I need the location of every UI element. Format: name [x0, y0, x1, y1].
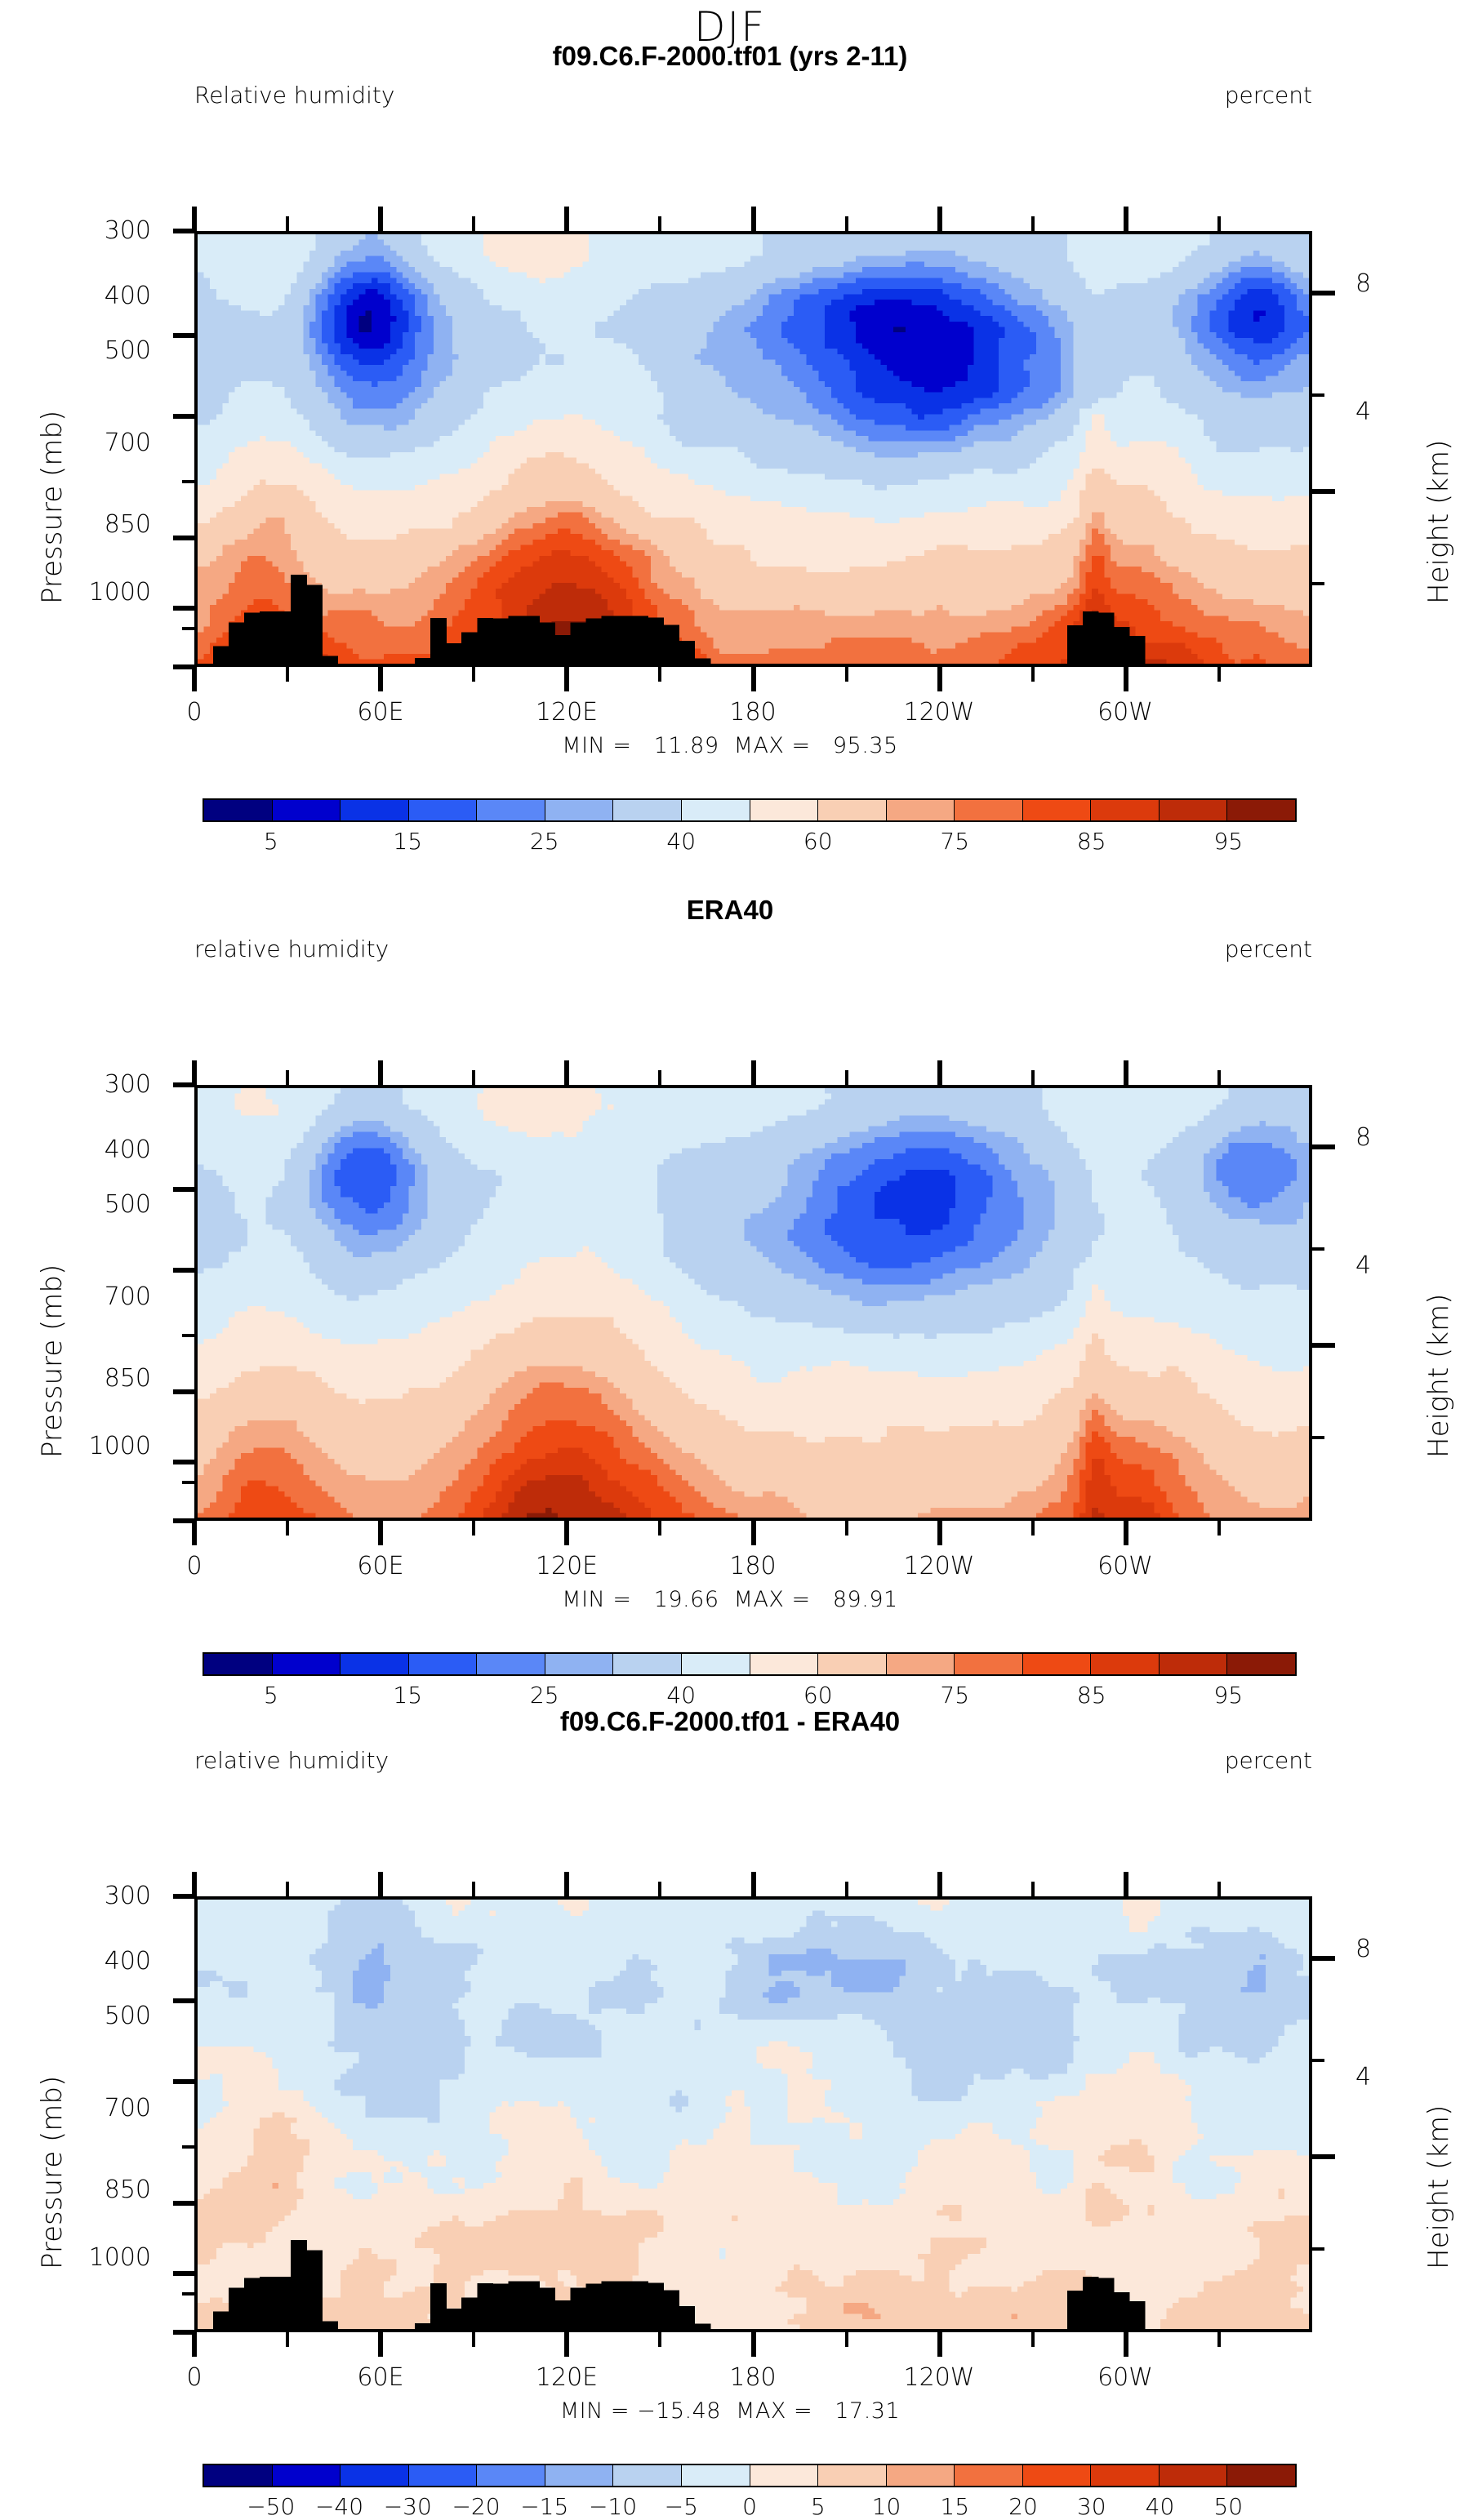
panel-3-ytick-1000: 1000	[49, 2243, 151, 2272]
colorbar-segment	[1091, 800, 1160, 820]
colorbar-segment	[1091, 1654, 1160, 1674]
colorbar-segment	[204, 1654, 273, 1674]
panel-2-xtick-0: 0	[154, 1552, 235, 1580]
colorbar-segment	[1227, 1654, 1295, 1674]
x-axis-minor-tick-bottom	[1217, 1521, 1221, 1536]
x-axis-major-tick-top	[751, 207, 756, 231]
panel-3-y2tick-8: 8	[1355, 1935, 1371, 1963]
colorbar-segment	[1160, 800, 1228, 820]
colorbar-segment	[818, 2465, 887, 2486]
x-axis-minor-tick-top	[658, 1882, 661, 1896]
panel-3-plot-area	[194, 1896, 1312, 2332]
y-axis-major-tick	[173, 2271, 196, 2276]
x-axis-minor-tick-bottom	[472, 1521, 475, 1536]
panel-1-title: f09.C6.F-2000.tf01 (yrs 2-11)	[0, 41, 1460, 72]
panel-2-xtick-60E: 60E	[340, 1552, 421, 1580]
y-axis-minor-tick	[182, 1481, 196, 1484]
y2-axis-major-tick	[1311, 2154, 1335, 2159]
x-axis-major-tick-bottom	[1124, 1521, 1128, 1545]
panel-2-plot-area	[194, 1085, 1312, 1521]
panel-3-ytick-300: 300	[65, 1882, 151, 1910]
colorbar-tick-label: 40	[636, 828, 726, 855]
colorbar-segment	[545, 2465, 614, 2486]
colorbar-segment	[613, 800, 682, 820]
colorbar-segment	[887, 1654, 955, 1674]
x-axis-major-tick-bottom	[192, 2332, 197, 2357]
colorbar-segment	[1227, 2465, 1295, 2486]
y-axis-major-tick	[173, 1460, 196, 1464]
panel-1-ytick-850: 850	[65, 510, 151, 539]
colorbar-segment	[1227, 800, 1295, 820]
x-axis-minor-tick-bottom	[286, 2332, 289, 2347]
panel-3-variable-label: relative humidity	[194, 1747, 389, 1774]
y2-axis-minor-tick	[1311, 393, 1324, 397]
x-axis-minor-tick-bottom	[472, 667, 475, 682]
colorbar-segment	[1160, 2465, 1228, 2486]
colorbar-tick-label: 60	[773, 828, 863, 855]
y2-axis-minor-tick	[1311, 1436, 1324, 1439]
x-axis-major-tick-top	[564, 1872, 569, 1896]
colorbar-segment	[273, 800, 341, 820]
colorbar-tick-label: 40	[636, 1682, 726, 1709]
colorbar-segment	[341, 1654, 409, 1674]
y-axis-major-tick	[173, 333, 196, 338]
colorbar-tick-label: 25	[500, 828, 590, 855]
colorbar-tick-label: 75	[910, 828, 999, 855]
panel-2-contour-field	[198, 1088, 1312, 1521]
x-axis-major-tick-top	[564, 207, 569, 231]
colorbar-segment	[477, 2465, 545, 2486]
x-axis-minor-tick-bottom	[845, 1521, 848, 1536]
x-axis-minor-tick-top	[1031, 1882, 1035, 1896]
colorbar-segment	[204, 800, 273, 820]
colorbar-segment	[955, 800, 1023, 820]
panel-2-colorbar	[203, 1652, 1297, 1676]
x-axis-major-tick-top	[751, 1872, 756, 1896]
x-axis-major-tick-top	[1124, 207, 1128, 231]
x-axis-minor-tick-bottom	[658, 2332, 661, 2347]
panel-1-xtick-0: 0	[154, 698, 235, 727]
panel-1-ytick-400: 400	[65, 282, 151, 310]
colorbar-tick-label: 15	[363, 828, 452, 855]
colorbar-segment	[273, 2465, 341, 2486]
panel-2-variable-label: relative humidity	[194, 936, 389, 962]
colorbar-tick-label: 85	[1047, 1682, 1137, 1709]
colorbar-segment	[955, 1654, 1023, 1674]
y-axis-major-tick	[173, 2201, 196, 2206]
y-axis-major-tick	[173, 1268, 196, 1273]
x-axis-minor-tick-bottom	[658, 667, 661, 682]
panel-1-ytick-300: 300	[65, 216, 151, 245]
y-axis-major-tick	[173, 1187, 196, 1192]
colorbar-segment	[1160, 1654, 1228, 1674]
x-axis-major-tick-top	[751, 1060, 756, 1085]
x-axis-major-tick-top	[1124, 1060, 1128, 1085]
y2-axis-minor-tick	[1311, 2247, 1324, 2251]
colorbar-segment	[341, 2465, 409, 2486]
x-axis-minor-tick-top	[472, 1882, 475, 1896]
panel-3-xtick-0: 0	[154, 2363, 235, 2392]
panel-3-ytick-700: 700	[65, 2094, 151, 2122]
x-axis-major-tick-bottom	[192, 667, 197, 691]
x-axis-minor-tick-bottom	[1031, 667, 1035, 682]
panel-3-xtick-60W: 60W	[1084, 2363, 1166, 2392]
x-axis-minor-tick-top	[658, 216, 661, 231]
colorbar-segment	[750, 1654, 819, 1674]
panel-2-xtick-120W: 120W	[898, 1552, 980, 1580]
y-axis-minor-tick	[182, 2145, 196, 2149]
panel-1-xtick-60W: 60W	[1084, 698, 1166, 727]
colorbar-segment	[818, 800, 887, 820]
panel-2-xtick-120E: 120E	[526, 1552, 608, 1580]
panel-1-minmax: MIN = 11.89 MAX = 95.35	[0, 733, 1460, 758]
panel-3-ytick-400: 400	[65, 1947, 151, 1976]
y-axis-major-tick	[173, 1998, 196, 2003]
colorbar-segment	[887, 800, 955, 820]
x-axis-minor-tick-top	[1217, 216, 1221, 231]
x-axis-major-tick-top	[937, 1872, 942, 1896]
x-axis-major-tick-top	[192, 1060, 197, 1085]
panel-2-y2tick-4: 4	[1355, 1251, 1371, 1280]
y2-axis-major-tick	[1311, 1956, 1335, 1961]
panel-3-colorbar	[203, 2464, 1297, 2487]
x-axis-minor-tick-top	[472, 216, 475, 231]
panel-1-y2tick-4: 4	[1355, 398, 1371, 426]
colorbar-segment	[545, 800, 614, 820]
colorbar-segment	[477, 1654, 545, 1674]
x-axis-minor-tick-bottom	[1031, 1521, 1035, 1536]
panel-2-y2-axis-label: Height (km)	[1422, 1294, 1455, 1458]
x-axis-minor-tick-bottom	[286, 667, 289, 682]
x-axis-minor-tick-top	[845, 1070, 848, 1085]
panel-3-title: f09.C6.F-2000.tf01 - ERA40	[0, 1706, 1460, 1737]
x-axis-major-tick-bottom	[751, 667, 756, 691]
panel-1-plot-area	[194, 231, 1312, 667]
panel-2-y-axis-label: Pressure (mb)	[36, 1264, 69, 1458]
x-axis-major-tick-bottom	[1124, 667, 1128, 691]
x-axis-major-tick-top	[1124, 1872, 1128, 1896]
panel-2-y2tick-8: 8	[1355, 1123, 1371, 1152]
x-axis-minor-tick-top	[286, 1070, 289, 1085]
colorbar-segment	[204, 2465, 273, 2486]
colorbar-segment	[1023, 2465, 1092, 2486]
x-axis-major-tick-bottom	[937, 1521, 942, 1545]
panel-1-contour-field	[198, 234, 1312, 667]
colorbar-segment	[750, 800, 819, 820]
panel-1-colorbar	[203, 798, 1297, 822]
y-axis-minor-tick	[182, 1334, 196, 1337]
y2-axis-major-tick	[1311, 1144, 1335, 1149]
x-axis-minor-tick-bottom	[845, 2332, 848, 2347]
panel-3-minmax: MIN = −15.48 MAX = 17.31	[0, 2398, 1460, 2424]
panel-1-variable-label: Relative humidity	[194, 82, 394, 109]
panel-3-contour-field	[198, 1900, 1312, 2332]
panel-3-y-axis-label: Pressure (mb)	[36, 2076, 69, 2269]
panel-2-xtick-60W: 60W	[1084, 1552, 1166, 1580]
y2-axis-major-tick	[1311, 489, 1335, 494]
panel-3-y2tick-4: 4	[1355, 2063, 1371, 2091]
x-axis-major-tick-bottom	[937, 667, 942, 691]
x-axis-minor-tick-bottom	[845, 667, 848, 682]
colorbar-tick-label: 75	[910, 1682, 999, 1709]
x-axis-minor-tick-top	[472, 1070, 475, 1085]
x-axis-major-tick-top	[937, 207, 942, 231]
x-axis-minor-tick-bottom	[658, 1521, 661, 1536]
x-axis-major-tick-bottom	[564, 1521, 569, 1545]
panel-3-xtick-60E: 60E	[340, 2363, 421, 2392]
x-axis-major-tick-bottom	[751, 2332, 756, 2357]
panel-3-xtick-120E: 120E	[526, 2363, 608, 2392]
y2-axis-major-tick	[1311, 291, 1335, 296]
panel-1-xtick-120W: 120W	[898, 698, 980, 727]
x-axis-major-tick-top	[564, 1060, 569, 1085]
x-axis-major-tick-bottom	[192, 1521, 197, 1545]
x-axis-major-tick-bottom	[937, 2332, 942, 2357]
colorbar-segment	[1091, 2465, 1160, 2486]
panel-1-xtick-180: 180	[712, 698, 794, 727]
x-axis-major-tick-top	[192, 1872, 197, 1896]
x-axis-minor-tick-top	[845, 216, 848, 231]
x-axis-major-tick-top	[378, 1872, 383, 1896]
x-axis-major-tick-bottom	[564, 667, 569, 691]
panel-2-ytick-850: 850	[65, 1364, 151, 1393]
colorbar-segment	[955, 2465, 1023, 2486]
x-axis-minor-tick-top	[286, 1882, 289, 1896]
y-axis-minor-tick	[182, 480, 196, 483]
y-axis-major-tick	[173, 414, 196, 419]
colorbar-segment	[1023, 1654, 1092, 1674]
x-axis-major-tick-bottom	[751, 1521, 756, 1545]
panel-2-ytick-700: 700	[65, 1282, 151, 1311]
x-axis-minor-tick-bottom	[1217, 2332, 1221, 2347]
colorbar-segment	[409, 1654, 478, 1674]
x-axis-minor-tick-bottom	[1031, 2332, 1035, 2347]
x-axis-minor-tick-top	[1217, 1070, 1221, 1085]
colorbar-segment	[545, 1654, 614, 1674]
panel-2-title: ERA40	[0, 895, 1460, 926]
colorbar-tick-label: 50	[1187, 2493, 1269, 2520]
panel-1-xtick-60E: 60E	[340, 698, 421, 727]
x-axis-major-tick-bottom	[378, 1521, 383, 1545]
y-axis-major-tick	[173, 2079, 196, 2084]
y-axis-minor-tick	[182, 2292, 196, 2296]
panel-3-ytick-500: 500	[65, 2002, 151, 2030]
colorbar-tick-label: 5	[226, 828, 316, 855]
x-axis-minor-tick-top	[1217, 1882, 1221, 1896]
colorbar-segment	[818, 1654, 887, 1674]
colorbar-segment	[1023, 800, 1092, 820]
y2-axis-major-tick	[1311, 1343, 1335, 1348]
panel-2-minmax: MIN = 19.66 MAX = 89.91	[0, 1587, 1460, 1612]
x-axis-minor-tick-bottom	[472, 2332, 475, 2347]
panel-1-xtick-120E: 120E	[526, 698, 608, 727]
colorbar-segment	[887, 2465, 955, 2486]
colorbar-segment	[409, 800, 478, 820]
panel-3-units-label: percent	[1225, 1747, 1312, 1774]
panel-1-ytick-700: 700	[65, 429, 151, 457]
x-axis-minor-tick-top	[845, 1882, 848, 1896]
x-axis-minor-tick-bottom	[286, 1521, 289, 1536]
y-axis-minor-tick	[182, 627, 196, 630]
panel-1-y2tick-8: 8	[1355, 269, 1371, 298]
panel-2-ytick-1000: 1000	[49, 1432, 151, 1460]
x-axis-major-tick-top	[937, 1060, 942, 1085]
colorbar-segment	[613, 2465, 682, 2486]
y-axis-major-tick	[173, 536, 196, 540]
colorbar-segment	[409, 2465, 478, 2486]
panel-3-xtick-120W: 120W	[898, 2363, 980, 2392]
x-axis-major-tick-top	[378, 1060, 383, 1085]
panel-1-y-axis-label: Pressure (mb)	[36, 411, 69, 604]
x-axis-minor-tick-top	[1031, 216, 1035, 231]
panel-3-ytick-850: 850	[65, 2176, 151, 2204]
panel-1-ytick-1000: 1000	[49, 578, 151, 607]
panel-1-y2-axis-label: Height (km)	[1422, 440, 1455, 604]
x-axis-minor-tick-top	[286, 216, 289, 231]
x-axis-major-tick-bottom	[564, 2332, 569, 2357]
panel-3-y2-axis-label: Height (km)	[1422, 2105, 1455, 2269]
panel-2-units-label: percent	[1225, 936, 1312, 962]
x-axis-minor-tick-top	[1031, 1070, 1035, 1085]
panel-2-ytick-400: 400	[65, 1136, 151, 1164]
y2-axis-minor-tick	[1311, 582, 1324, 585]
panel-2-ytick-300: 300	[65, 1070, 151, 1099]
colorbar-segment	[341, 800, 409, 820]
x-axis-major-tick-bottom	[1124, 2332, 1128, 2357]
y2-axis-minor-tick	[1311, 2059, 1324, 2062]
x-axis-minor-tick-bottom	[1217, 667, 1221, 682]
colorbar-tick-label: 25	[500, 1682, 590, 1709]
x-axis-major-tick-top	[192, 207, 197, 231]
x-axis-major-tick-bottom	[378, 667, 383, 691]
y2-axis-minor-tick	[1311, 1247, 1324, 1251]
colorbar-tick-label: 60	[773, 1682, 863, 1709]
x-axis-major-tick-bottom	[378, 2332, 383, 2357]
colorbar-segment	[682, 2465, 750, 2486]
colorbar-segment	[682, 1654, 750, 1674]
colorbar-segment	[477, 800, 545, 820]
x-axis-minor-tick-top	[658, 1070, 661, 1085]
colorbar-segment	[273, 1654, 341, 1674]
colorbar-tick-label: 15	[363, 1682, 452, 1709]
colorbar-tick-label: 95	[1183, 828, 1273, 855]
panel-3-xtick-180: 180	[712, 2363, 794, 2392]
colorbar-segment	[682, 800, 750, 820]
colorbar-tick-label: 5	[226, 1682, 316, 1709]
panel-1-units-label: percent	[1225, 82, 1312, 109]
y-axis-major-tick	[173, 1389, 196, 1394]
colorbar-tick-label: 85	[1047, 828, 1137, 855]
y-axis-major-tick	[173, 606, 196, 611]
panel-1-ytick-500: 500	[65, 336, 151, 365]
panel-2-ytick-500: 500	[65, 1190, 151, 1219]
x-axis-major-tick-top	[378, 207, 383, 231]
colorbar-segment	[613, 1654, 682, 1674]
panel-2-xtick-180: 180	[712, 1552, 794, 1580]
colorbar-segment	[750, 2465, 819, 2486]
colorbar-tick-label: 95	[1183, 1682, 1273, 1709]
